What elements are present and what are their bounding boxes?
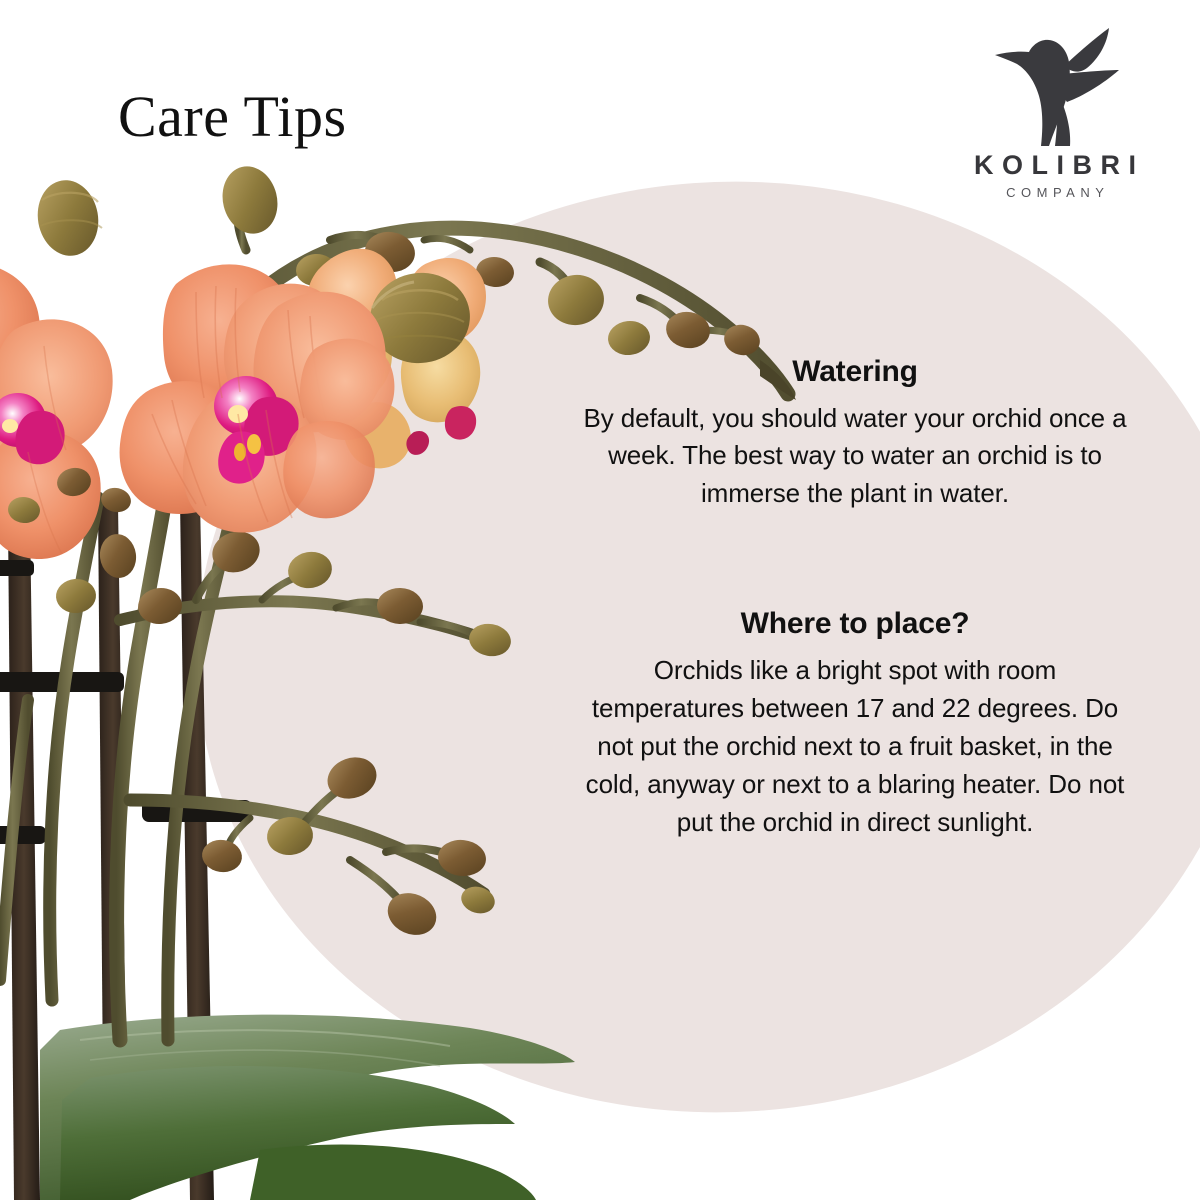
poster-canvas: Care Tips KOLIBRI COMPANY Watering By de…	[0, 0, 1200, 1200]
care-tips-copy: Watering By default, you should water yo…	[575, 355, 1135, 842]
section-heading-placement: Where to place?	[575, 607, 1135, 642]
upper-left-buds	[7, 465, 133, 524]
hummingbird-icon	[991, 22, 1119, 146]
brand-name: KOLIBRI	[962, 152, 1148, 179]
section-spacer	[575, 513, 1135, 607]
section-body-watering: By default, you should water your orchid…	[575, 400, 1135, 514]
brand-logo[interactable]: KOLIBRI COMPANY	[962, 22, 1148, 199]
brand-subtitle: COMPANY	[962, 186, 1148, 199]
section-body-placement: Orchids like a bright spot with room tem…	[575, 652, 1135, 842]
coral-orchid-flower-left	[0, 175, 113, 559]
section-heading-watering: Watering	[575, 355, 1135, 390]
flower-stems	[0, 470, 238, 1040]
page-title: Care Tips	[118, 83, 347, 150]
